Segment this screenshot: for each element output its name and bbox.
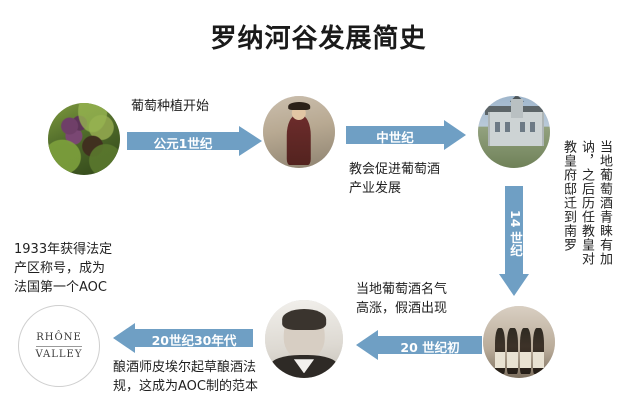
vineyard-photo (48, 103, 120, 175)
note-church-promotes-line2: 产业发展 (349, 179, 499, 198)
note-pope-col-3: 当地葡萄酒青睐有加 (596, 140, 613, 302)
arrow-middle-ages-label: 中世纪 (346, 127, 444, 146)
arrow-early-20th-century-label: 20 世纪初 (378, 337, 482, 356)
arrow-early-20th-century[interactable]: 20 世纪初 (356, 330, 482, 360)
arrow-middle-ages[interactable]: 中世纪 (346, 120, 466, 150)
logo-line-1: RHÔNE (36, 332, 82, 344)
note-aoc-1933: 1933年获得法定 产区称号，成为 法国第一个AOC (14, 240, 164, 297)
note-pierre-line2: 规，这成为AOC制的范本 (113, 377, 363, 396)
logo-line-2: VALLEY (36, 349, 83, 361)
winemaker-portrait-photo (265, 300, 343, 378)
arrow-14th-century-label: 14 世纪 (506, 192, 525, 274)
note-pope-col-2: 讷，之后历任教皇对 (578, 140, 595, 302)
arrow-1st-century-label: 公元1世纪 (127, 133, 239, 152)
note-church-promotes-line1: 教会促进葡萄酒 (349, 160, 499, 179)
note-church-promotes: 教会促进葡萄酒 产业发展 (349, 160, 499, 198)
chateau-photo (478, 96, 550, 168)
note-grape-planting-start: 葡萄种植开始 (131, 97, 271, 116)
note-aoc-line1: 1933年获得法定 (14, 240, 164, 259)
arrow-1st-century[interactable]: 公元1世纪 (127, 126, 262, 156)
note-aoc-line3: 法国第一个AOC (14, 278, 164, 297)
medieval-figure-photo (263, 96, 335, 168)
arrow-1930s[interactable]: 20世纪30年代 (113, 323, 253, 353)
slide-canvas: 罗纳河谷发展简史 葡萄种植开始 公元1世纪 中世纪 教会促进葡萄酒 产业发展 (0, 0, 637, 412)
page-title: 罗纳河谷发展简史 (0, 18, 637, 55)
wine-bottles-photo (483, 306, 555, 378)
note-aoc-line2: 产区称号，成为 (14, 259, 164, 278)
logo-divider (36, 346, 82, 347)
note-pope-col-1: 教皇府邸迁到南罗 (560, 140, 577, 290)
rhone-valley-logo: RHÔNE VALLEY (18, 305, 100, 387)
arrow-1930s-label: 20世纪30年代 (135, 330, 253, 349)
note-fame-line1: 当地葡萄酒名气 (356, 280, 516, 299)
